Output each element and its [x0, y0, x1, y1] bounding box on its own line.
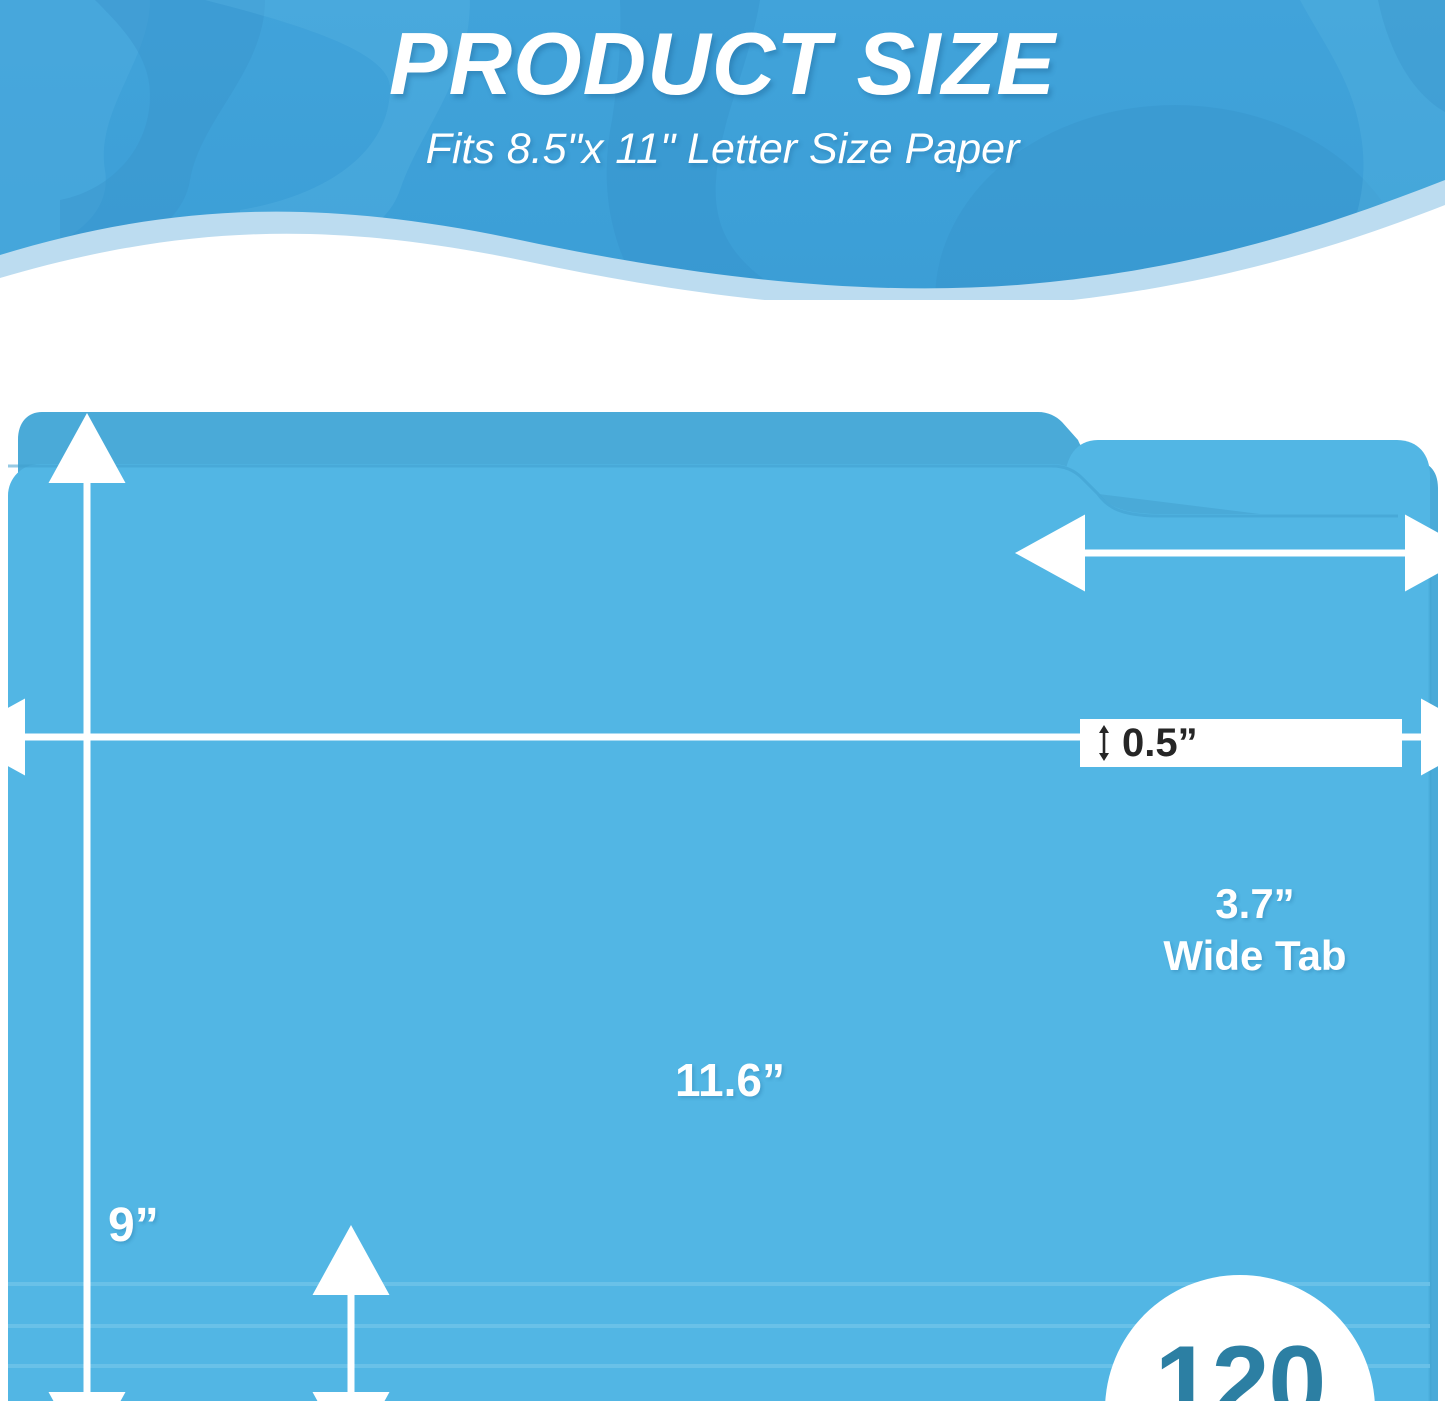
folder-height-label: 9”	[108, 1198, 159, 1254]
page-title: PRODUCT SIZE	[0, 14, 1445, 114]
folder-diagram	[0, 300, 1445, 1401]
vertical-double-arrow-icon	[1096, 725, 1112, 761]
page-subtitle: Fits 8.5"x 11" Letter Size Paper	[0, 122, 1445, 176]
tab-width-caption: Wide Tab	[1090, 930, 1420, 982]
pack-count-number: 120	[1155, 1334, 1326, 1401]
product-size-infographic: PRODUCT SIZE Fits 8.5"x 11" Letter Size …	[0, 0, 1445, 1401]
tab-width-value: 3.7”	[1215, 880, 1294, 927]
folder-illustration-area: 0.5” 3.7” Wide Tab 11.6” 9” 0.8” Expansi…	[0, 300, 1445, 1401]
header-banner: PRODUCT SIZE Fits 8.5"x 11" Letter Size …	[0, 0, 1445, 300]
folder-width-label: 11.6”	[580, 1053, 880, 1107]
tab-height-label: 0.5”	[1122, 721, 1198, 765]
tab-height-callout: 0.5”	[1080, 719, 1402, 767]
tab-width-callout: 3.7” Wide Tab	[1090, 878, 1420, 982]
